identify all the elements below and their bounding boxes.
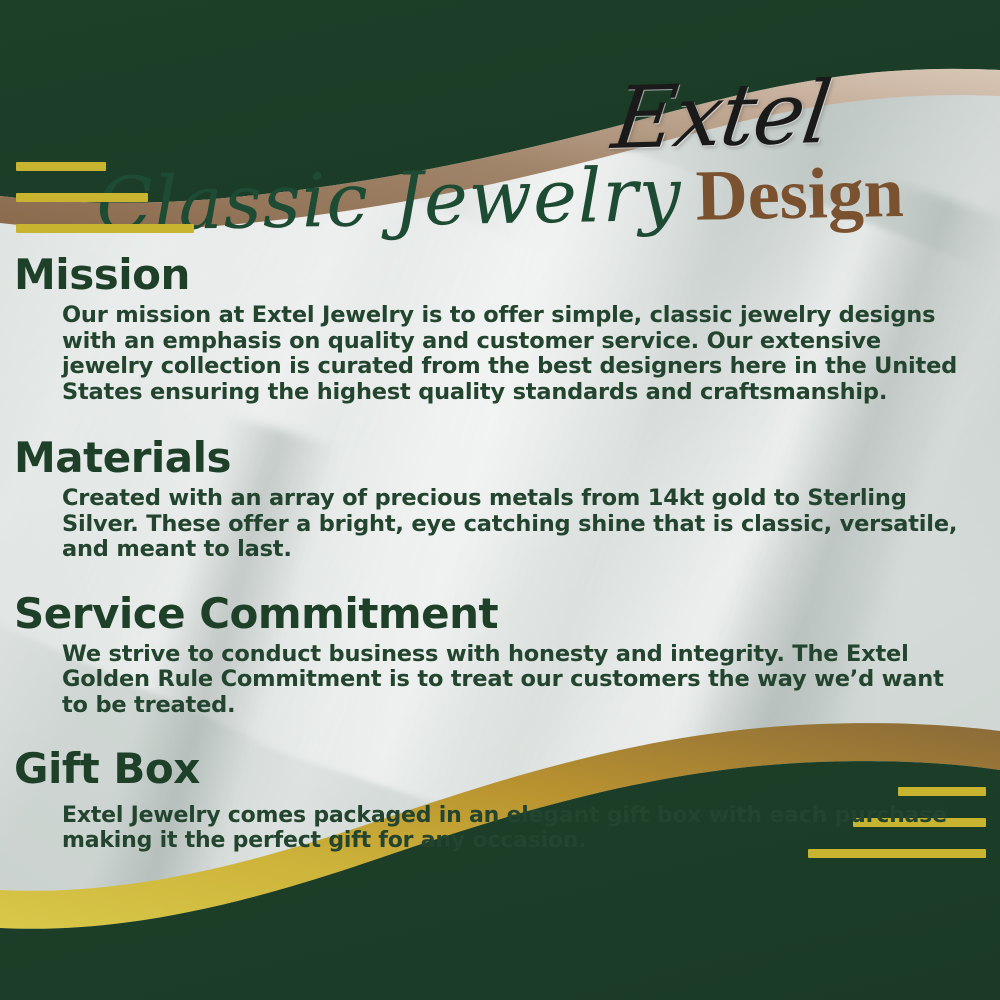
section-mission: Mission Our mission at Extel Jewelry is … [0, 252, 1000, 405]
headline-block: Extel Classic JewelryDesign [0, 75, 1000, 245]
section-body-gift-box: Extel Jewelry comes packaged in an elega… [62, 804, 970, 854]
section-heading-materials: Materials [14, 435, 1000, 480]
poster-canvas: Extel Classic JewelryDesign Mission Our … [0, 0, 1000, 1000]
title-script-part: Classic Jewelry [96, 152, 683, 248]
section-body-service-commitment: We strive to conduct business with hones… [62, 642, 970, 718]
section-heading-service-commitment: Service Commitment [14, 591, 1000, 636]
section-body-text: Our mission at Extel Jewelry is to offer… [62, 303, 970, 405]
section-service-commitment: Service Commitment We strive to conduct … [0, 591, 1000, 719]
section-heading-mission: Mission [14, 252, 1000, 297]
section-gift-box: Gift Box Extel Jewelry comes packaged in… [0, 746, 1000, 853]
section-materials: Materials Created with an array of preci… [0, 435, 1000, 563]
section-body-text: Extel Jewelry comes packaged in an elega… [62, 804, 970, 854]
section-heading-gift-box: Gift Box [14, 746, 1000, 791]
section-body-text: Created with an array of precious metals… [62, 486, 970, 562]
brand-logo-script: Extel [608, 70, 834, 162]
title-serif-part: Design [695, 152, 904, 236]
content-sections: Mission Our mission at Extel Jewelry is … [0, 252, 1000, 857]
section-body-materials: Created with an array of precious metals… [62, 486, 970, 562]
poster-title: Classic JewelryDesign [0, 146, 1000, 249]
section-body-text: We strive to conduct business with hones… [62, 642, 970, 718]
section-body-mission: Our mission at Extel Jewelry is to offer… [62, 303, 970, 405]
